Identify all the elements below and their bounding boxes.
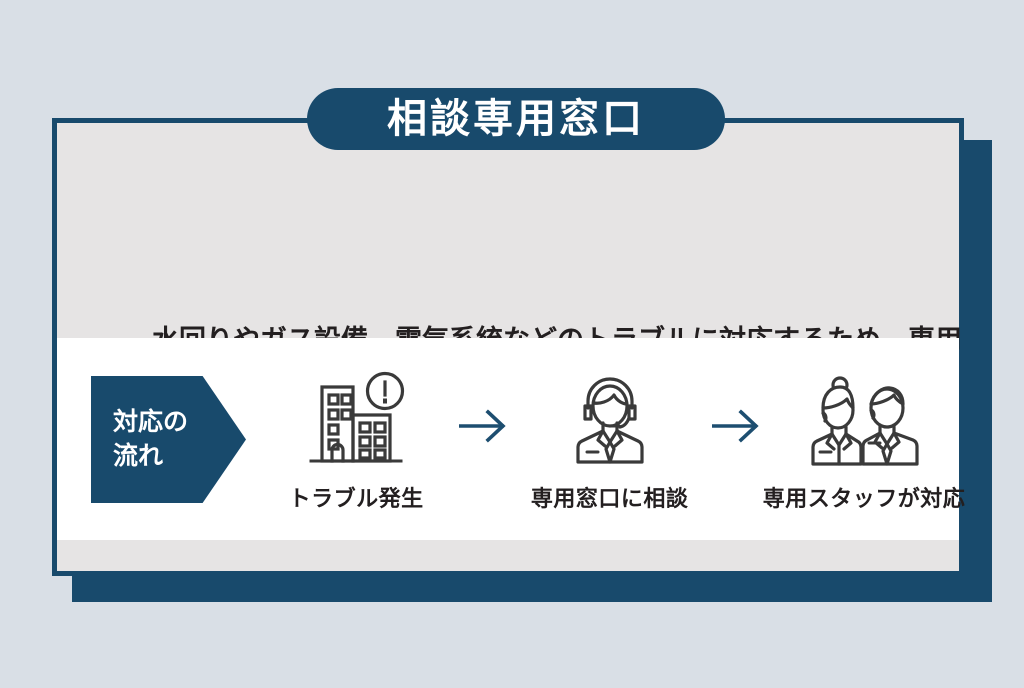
flow-step-2-label: 専用窓口に相談 — [531, 481, 689, 513]
page-title: 相談専用窓口 — [387, 99, 645, 139]
building-alert-icon — [304, 365, 408, 475]
flow-step-3: 専用スタッフが対応 — [769, 365, 959, 513]
headset-operator-icon — [558, 365, 662, 475]
arrow-right-icon-1 — [450, 409, 515, 443]
arrow-right-icon-2 — [704, 409, 769, 443]
flow-strip: 対応の 流れ — [57, 338, 959, 540]
flow-badge: 対応の 流れ — [91, 376, 246, 503]
flow-badge-line-1: 対応の — [113, 406, 188, 440]
flow-step-1-label: トラブル発生 — [289, 481, 424, 513]
flow-step-2: 専用窓口に相談 — [516, 365, 704, 513]
flow-step-3-label: 専用スタッフが対応 — [763, 481, 966, 513]
flow-step-1: トラブル発生 — [262, 365, 450, 513]
flow-steps: トラブル発生 — [262, 338, 959, 540]
infographic-stage: 水回りやガス設備、電気系統などのトラブルに対応するため、専用 窓口を設置。万が一… — [0, 0, 1024, 688]
two-staff-icon — [805, 365, 923, 475]
flow-badge-line-2: 流れ — [113, 440, 163, 474]
title-pill: 相談専用窓口 — [307, 88, 725, 150]
